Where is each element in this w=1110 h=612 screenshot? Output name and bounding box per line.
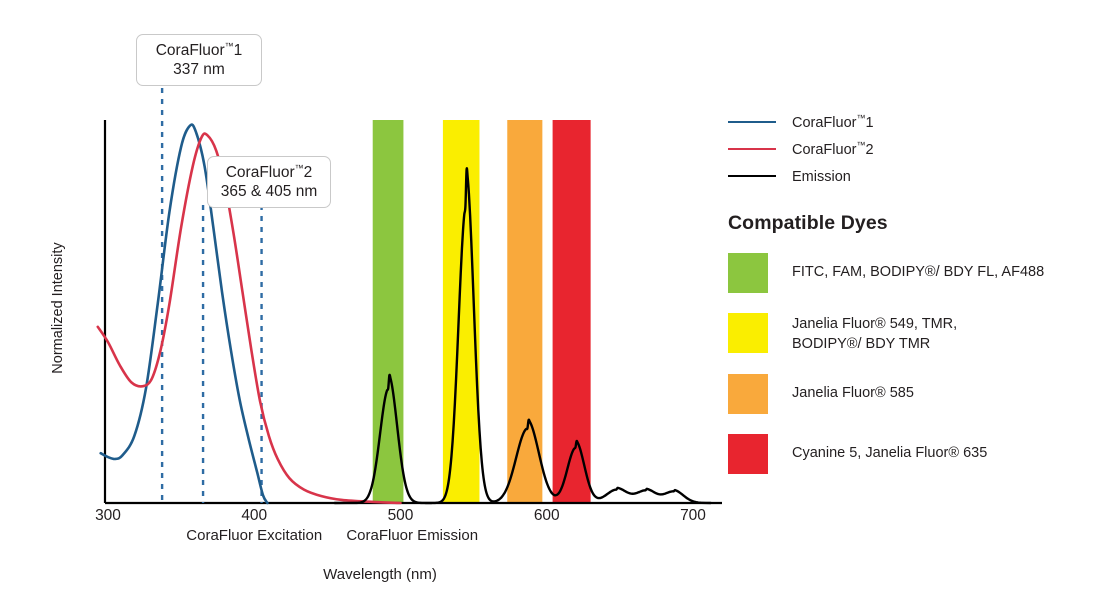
x-tick-400: 400: [224, 507, 284, 525]
fluorescence-spectra-figure: CoraFluor™1 337 nm CoraFluor™2 365 & 405…: [0, 0, 1110, 612]
legend-emission-swatch: [728, 175, 776, 177]
compatible-dyes-list: FITC, FAM, BODIPY®/ BDY FL, AF488Janelia…: [728, 253, 1098, 474]
compatible-dyes-heading: Compatible Dyes: [728, 212, 1098, 235]
legend-corafluor1-swatch: [728, 121, 776, 123]
legend-corafluor2-label: CoraFluor™2: [792, 140, 874, 158]
excitation-marker-lines: [162, 88, 261, 503]
dye-yellow-label-line2: BODIPY®/ BDY TMR: [792, 334, 957, 354]
callout-corafluor2: CoraFluor™2 365 & 405 nm: [207, 156, 331, 208]
y-axis-title: Normalized Intensity: [50, 218, 66, 398]
legend-corafluor2-swatch: [728, 148, 776, 150]
dye-orange-label: Janelia Fluor® 585: [792, 374, 914, 403]
legend-emission[interactable]: Emission: [728, 162, 1098, 189]
axes-group: [105, 120, 722, 503]
legend-corafluor2[interactable]: CoraFluor™2: [728, 135, 1098, 162]
dye-red-label: Cyanine 5, Janelia Fluor® 635: [792, 434, 987, 463]
dye-yellow-row[interactable]: Janelia Fluor® 549, TMR,BODIPY®/ BDY TMR: [728, 313, 1098, 354]
spectra-curves: [98, 125, 711, 503]
x-tick-600: 600: [517, 507, 577, 525]
legend-panel: CoraFluor™1CoraFluor™2Emission Compatibl…: [728, 108, 1098, 494]
dye-red-row[interactable]: Cyanine 5, Janelia Fluor® 635: [728, 434, 1098, 474]
dye-green-label-line1: FITC, FAM, BODIPY®/ BDY FL, AF488: [792, 262, 1044, 282]
callout-corafluor1: CoraFluor™1 337 nm: [136, 34, 262, 86]
dye-green-row[interactable]: FITC, FAM, BODIPY®/ BDY FL, AF488: [728, 253, 1098, 293]
dye-yellow-swatch: [728, 313, 768, 353]
dye-red-swatch: [728, 434, 768, 474]
x-tick-700: 700: [663, 507, 723, 525]
callout-cf1-line2: 337 nm: [173, 61, 225, 79]
dye-orange-label-line1: Janelia Fluor® 585: [792, 383, 914, 403]
dye-orange-swatch: [728, 374, 768, 414]
x-axis-title: Wavelength (nm): [0, 566, 760, 583]
dye-green-swatch: [728, 253, 768, 293]
dye-red-label-line1: Cyanine 5, Janelia Fluor® 635: [792, 443, 987, 463]
axis-section-emission: CoraFluor Emission: [282, 527, 542, 544]
trademark-icon: ™: [295, 163, 304, 173]
red-band: [553, 120, 591, 503]
dye-orange-row[interactable]: Janelia Fluor® 585: [728, 374, 1098, 414]
legend-emission-label: Emission: [792, 167, 851, 185]
x-tick-500: 500: [371, 507, 431, 525]
callout-cf2-line1: CoraFluor™2: [226, 163, 313, 182]
legend-corafluor1[interactable]: CoraFluor™1: [728, 108, 1098, 135]
callout-cf1-line1: CoraFluor™1: [156, 41, 243, 60]
dye-green-label: FITC, FAM, BODIPY®/ BDY FL, AF488: [792, 253, 1044, 282]
dye-yellow-label: Janelia Fluor® 549, TMR,BODIPY®/ BDY TMR: [792, 313, 957, 354]
x-tick-300: 300: [78, 507, 138, 525]
dye-yellow-label-line1: Janelia Fluor® 549, TMR,: [792, 314, 957, 334]
callout-cf2-line2: 365 & 405 nm: [221, 183, 318, 201]
trademark-icon: ™: [225, 41, 234, 51]
legend-corafluor1-label: CoraFluor™1: [792, 113, 874, 131]
legend-series-list: CoraFluor™1CoraFluor™2Emission: [728, 108, 1098, 189]
